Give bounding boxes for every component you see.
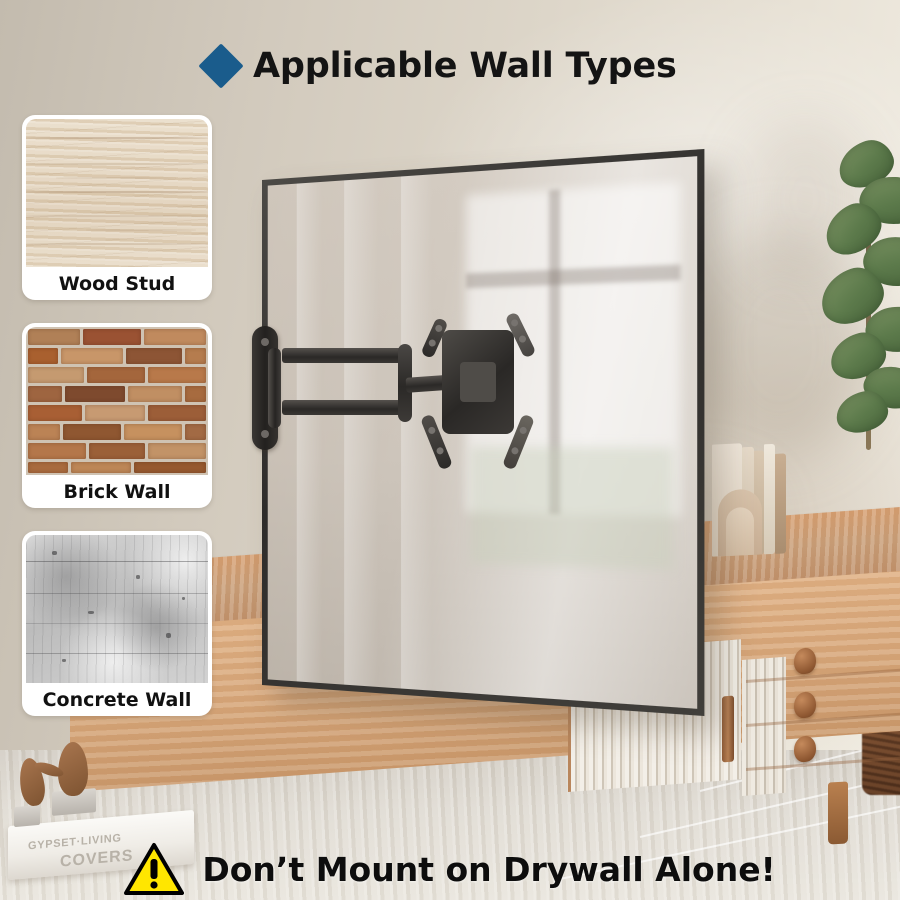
fiddle-leaf-fig-plant [820,120,900,450]
mount-vesa-bracket [442,330,514,434]
blue-diamond-icon [198,43,243,88]
bird-figurine-base [14,805,40,827]
mount-pivot-hinge [268,348,281,428]
infographic-canvas: GYPSET·LIVING COVERS [0,0,900,900]
brick-wall-swatch [26,327,208,475]
credenza-leg [828,781,848,844]
wall-type-card-wood-stud[interactable]: Wood Stud [22,115,212,300]
mount-arm-lower [282,400,402,415]
mount-arm-upper [282,348,402,363]
wall-type-card-brick-wall[interactable]: Brick Wall [22,323,212,508]
warning-text: Don’t Mount on Drywall Alone! [202,850,775,889]
drawer-knob [794,735,816,763]
wall-type-label: Brick Wall [26,475,208,508]
page-title: Applicable Wall Types [253,46,677,86]
page-title-row: Applicable Wall Types [205,46,677,86]
concrete-wall-swatch [26,535,208,683]
warning-triangle-icon [124,842,184,896]
book-stack [712,438,786,556]
warning-banner: Don’t Mount on Drywall Alone! [0,838,900,900]
tv-wall-mount [246,318,576,518]
door-handle [722,696,734,763]
wood-stud-swatch [26,119,208,267]
wall-type-card-list: Wood Stud [22,115,212,739]
wall-type-label: Wood Stud [26,267,208,300]
wall-type-label: Concrete Wall [26,683,208,716]
wall-type-card-concrete-wall[interactable]: Concrete Wall [22,531,212,716]
